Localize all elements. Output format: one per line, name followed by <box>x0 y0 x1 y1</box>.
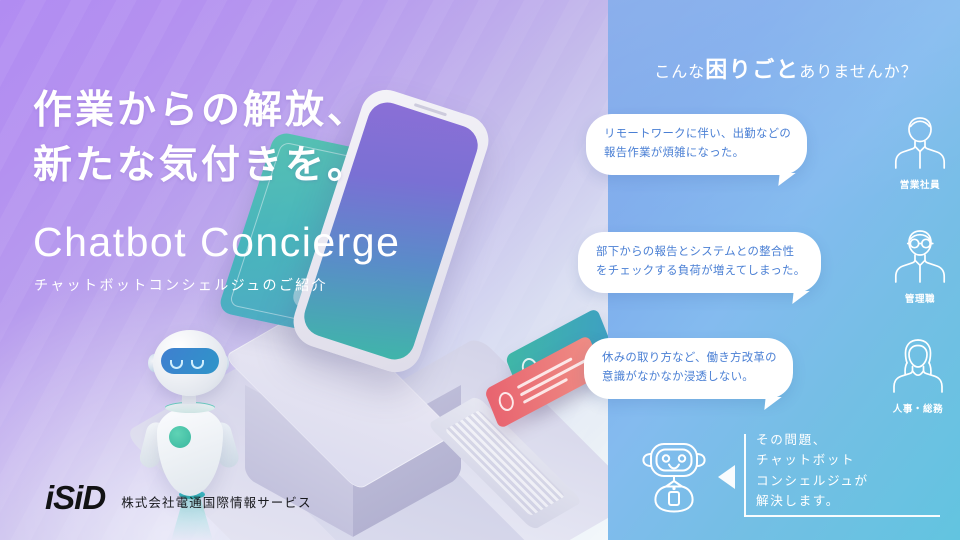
persona-label: 管理職 <box>884 291 956 305</box>
company-name: 株式会社電通国際情報サービス <box>121 492 311 514</box>
chevron-right-pointer-icon <box>716 462 738 492</box>
persona-label: 営業社員 <box>884 177 956 191</box>
solution-line-2: チャットボット <box>756 450 869 470</box>
brand-logo: iSiD 株式会社電通国際情報サービス <box>45 481 312 514</box>
headline-line-1: 作業からの解放、 <box>33 83 553 138</box>
solution-line-3: コンシェルジュが <box>756 471 869 491</box>
persona-hr: 人事・総務 <box>882 336 954 415</box>
robot-chest-badge <box>169 426 191 448</box>
panel-heading-suffix: ありませんか？ <box>799 64 918 81</box>
panel-heading: こんな困りごとありませんか？ <box>612 52 960 84</box>
left-panel: 作業からの解放、 新たな気付きを。 Chatbot Concierge チャット… <box>0 0 612 540</box>
solution-bracket-horizontal <box>744 515 940 517</box>
solution-line-4: 解決します。 <box>756 491 869 511</box>
product-subtitle: チャットボットコンシェルジュのご紹介 <box>34 275 328 295</box>
slide-canvas: 作業からの解放、 新たな気付きを。 Chatbot Concierge チャット… <box>0 0 960 540</box>
page-title: 作業からの解放、 新たな気付きを。 <box>33 83 553 194</box>
panel-heading-emphasis: 困りごと <box>705 57 799 82</box>
bubble-line-2: 報告作業が煩雑になった。 <box>604 144 791 163</box>
person-glasses-icon <box>889 226 951 284</box>
bubble-tail <box>764 397 781 410</box>
bubble-tail <box>778 173 795 186</box>
isid-logo-mark: iSiD <box>45 481 105 514</box>
solution-message: その問題、 チャットボット コンシェルジュが 解決します。 <box>756 430 869 512</box>
persona-sales: 営業社員 <box>884 112 956 191</box>
persona-label: 人事・総務 <box>882 401 954 415</box>
bubble-line-1: リモートワークに伴い、出勤などの <box>604 125 791 144</box>
bubble-line-1: 部下からの報告とシステムとの整合性 <box>596 243 805 262</box>
person-longhair-icon <box>885 336 951 394</box>
persona-manager: 管理職 <box>884 226 956 305</box>
bubble-line-2: をチェックする負荷が増えてしまった。 <box>596 262 805 281</box>
pain-point-bubble: 部下からの報告とシステムとの整合性 をチェックする負荷が増えてしまった。 <box>578 232 821 293</box>
product-name: Chatbot Concierge <box>33 222 400 263</box>
bubble-line-1: 休みの取り方など、働き方改革の <box>602 349 777 368</box>
headline-line-2: 新たな気付きを。 <box>33 138 553 193</box>
pain-point-bubble: 休みの取り方など、働き方改革の 意識がなかなか浸透しない。 <box>584 338 793 399</box>
bubble-line-2: 意識がなかなか浸透しない。 <box>602 368 777 387</box>
chatbot-robot-icon <box>637 436 711 514</box>
person-tie-icon <box>889 112 951 170</box>
card-avatar-icon <box>496 389 516 414</box>
pain-point-bubble: リモートワークに伴い、出勤などの 報告作業が煩雑になった。 <box>586 114 807 175</box>
bubble-tail <box>793 291 810 304</box>
solution-line-1: その問題、 <box>756 430 869 450</box>
card-text-line <box>520 359 586 397</box>
panel-heading-prefix: こんな <box>654 64 705 81</box>
solution-bracket-vertical <box>744 434 746 517</box>
robot-mascot-illustration <box>135 330 255 490</box>
